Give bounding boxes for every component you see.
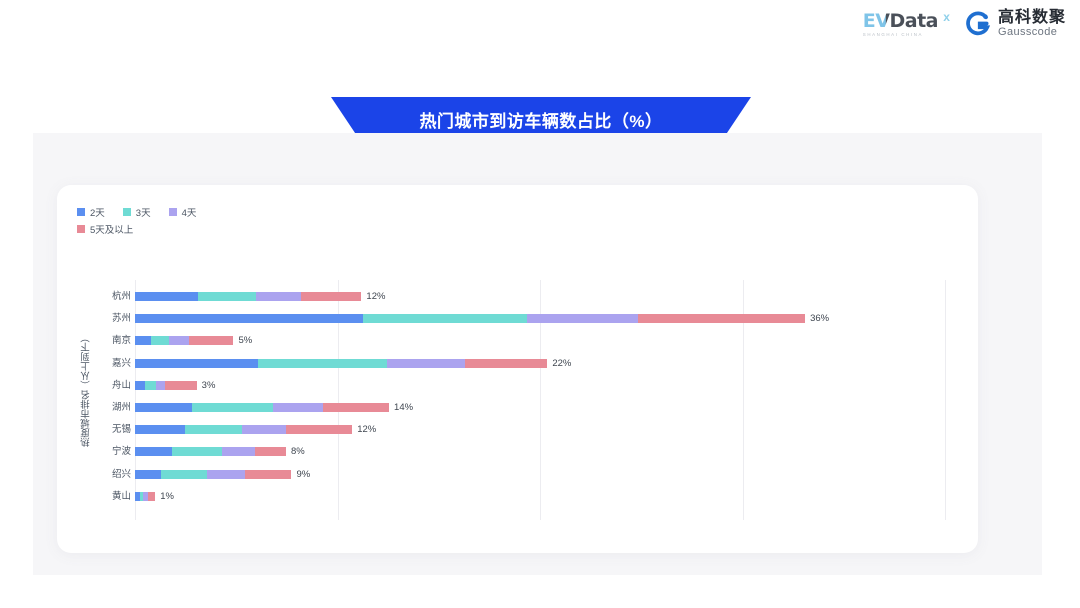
- evdata-logo-wordmark: EVData: [863, 11, 938, 31]
- bar-segment-5天及以上[interactable]: [286, 425, 352, 434]
- stacked-bar[interactable]: [135, 381, 197, 390]
- bar-segment-2天[interactable]: [135, 425, 185, 434]
- bar-segment-4天[interactable]: [273, 403, 323, 412]
- stacked-bar[interactable]: [135, 447, 286, 456]
- bar-value-label: 36%: [810, 312, 829, 325]
- gausscode-logo-en: Gausscode: [998, 26, 1066, 38]
- y-axis-tick-label: 南京: [99, 330, 131, 352]
- bar-value-label: 12%: [366, 290, 385, 303]
- bar-segment-3天[interactable]: [192, 403, 273, 412]
- bar-segment-4天[interactable]: [387, 359, 464, 368]
- bar-segment-5天及以上[interactable]: [165, 381, 196, 390]
- bar-segment-5天及以上[interactable]: [189, 336, 233, 345]
- bar-segment-5天及以上[interactable]: [148, 492, 155, 501]
- y-axis-tick-label: 苏州: [99, 308, 131, 330]
- bar-segment-3天[interactable]: [151, 336, 169, 345]
- evdata-logo-subtitle: shanghai china: [863, 32, 923, 37]
- gausscode-g-mark-icon: [966, 11, 991, 36]
- y-axis-tick-label: 嘉兴: [99, 353, 131, 375]
- gausscode-logo-text: 高科数聚 Gausscode: [998, 9, 1066, 38]
- bar-value-label: 1%: [160, 490, 174, 503]
- bar-segment-3天[interactable]: [161, 470, 207, 479]
- plot-area: 热度城市排名（从上到下） 杭州12%苏州36%南京5%嘉兴22%舟山3%湖州14…: [57, 185, 978, 553]
- bar-value-label: 12%: [357, 423, 376, 436]
- bar-segment-4天[interactable]: [222, 447, 255, 456]
- bar-segment-2天[interactable]: [135, 336, 151, 345]
- bar-segment-5天及以上[interactable]: [323, 403, 389, 412]
- y-axis-tick-label: 宁波: [99, 441, 131, 463]
- bar-segment-5天及以上[interactable]: [255, 447, 286, 456]
- stacked-bar[interactable]: [135, 359, 547, 368]
- y-axis-tick-label: 黄山: [99, 486, 131, 508]
- bar-value-label: 8%: [291, 445, 305, 458]
- stacked-bar[interactable]: [135, 314, 805, 323]
- stacked-bar[interactable]: [135, 470, 291, 479]
- chart-row: 舟山3%: [57, 375, 978, 397]
- gausscode-logo: 高科数聚 Gausscode: [966, 9, 1066, 38]
- y-axis-tick-label: 绍兴: [99, 464, 131, 486]
- bar-segment-2天[interactable]: [135, 359, 258, 368]
- chart-rows: 杭州12%苏州36%南京5%嘉兴22%舟山3%湖州14%无锡12%宁波8%绍兴9…: [57, 185, 978, 553]
- chart-row: 苏州36%: [57, 308, 978, 330]
- bar-segment-2天[interactable]: [135, 403, 192, 412]
- bar-segment-2天[interactable]: [135, 447, 172, 456]
- page-title: 热门城市到访车辆数占比（%）: [419, 107, 662, 132]
- stacked-bar[interactable]: [135, 403, 389, 412]
- chart-row: 黄山1%: [57, 486, 978, 508]
- bar-value-label: 9%: [296, 468, 310, 481]
- y-axis-tick-label: 无锡: [99, 419, 131, 441]
- bar-segment-2天[interactable]: [135, 470, 161, 479]
- chart-row: 南京5%: [57, 330, 978, 352]
- bar-segment-5天及以上[interactable]: [301, 292, 362, 301]
- chart-row: 湖州14%: [57, 397, 978, 419]
- bar-segment-3天[interactable]: [258, 359, 387, 368]
- bar-value-label: 14%: [394, 401, 413, 414]
- bar-segment-4天[interactable]: [169, 336, 189, 345]
- evdata-logo: EVData shanghai china x: [863, 11, 950, 37]
- bar-segment-2天[interactable]: [135, 314, 363, 323]
- bar-segment-2天[interactable]: [135, 381, 145, 390]
- bar-value-label: 5%: [238, 334, 252, 347]
- bar-segment-2天[interactable]: [135, 292, 198, 301]
- stacked-bar[interactable]: [135, 492, 155, 501]
- bar-segment-4天[interactable]: [527, 314, 637, 323]
- bar-segment-4天[interactable]: [156, 381, 165, 390]
- bar-value-label: 3%: [202, 379, 216, 392]
- chart-row: 宁波8%: [57, 441, 978, 463]
- bar-segment-4天[interactable]: [207, 470, 246, 479]
- chart-row: 杭州12%: [57, 286, 978, 308]
- stacked-bar[interactable]: [135, 425, 352, 434]
- stacked-bar[interactable]: [135, 336, 233, 345]
- bar-segment-3天[interactable]: [363, 314, 527, 323]
- bar-segment-3天[interactable]: [172, 447, 222, 456]
- gausscode-logo-cn: 高科数聚: [998, 9, 1066, 26]
- header-logo-group: EVData shanghai china x 高科数聚 Gausscode: [863, 9, 1066, 38]
- chart-row: 绍兴9%: [57, 464, 978, 486]
- evdata-logo-x-icon: x: [943, 10, 950, 24]
- y-axis-tick-label: 湖州: [99, 397, 131, 419]
- bar-segment-3天[interactable]: [198, 292, 257, 301]
- bar-segment-5天及以上[interactable]: [245, 470, 291, 479]
- y-axis-tick-label: 杭州: [99, 286, 131, 308]
- chart-card: 2天3天4天5天及以上 热度城市排名（从上到下） 杭州12%苏州36%南京5%嘉…: [57, 185, 978, 553]
- bar-value-label: 22%: [552, 357, 571, 370]
- bar-segment-5天及以上[interactable]: [638, 314, 806, 323]
- bar-segment-5天及以上[interactable]: [465, 359, 548, 368]
- bar-segment-3天[interactable]: [145, 381, 156, 390]
- bar-segment-4天[interactable]: [256, 292, 300, 301]
- chart-row: 无锡12%: [57, 419, 978, 441]
- chart-row: 嘉兴22%: [57, 353, 978, 375]
- bar-segment-3天[interactable]: [185, 425, 242, 434]
- y-axis-tick-label: 舟山: [99, 375, 131, 397]
- stacked-bar[interactable]: [135, 292, 361, 301]
- bar-segment-4天[interactable]: [242, 425, 286, 434]
